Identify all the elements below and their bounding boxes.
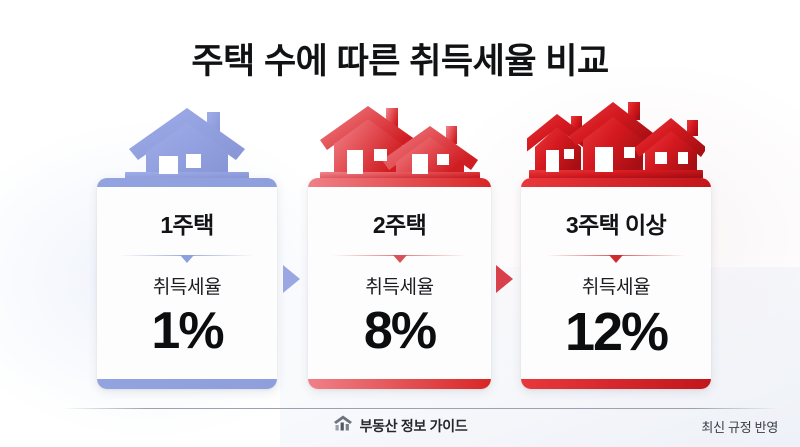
house-bar-chart-icon: [333, 415, 353, 436]
rate-value: 12%: [565, 303, 667, 362]
card-two-houses[interactable]: 2주택 취득세율 8%: [308, 104, 491, 389]
card-accent-top: [521, 178, 711, 187]
page-title: 주택 수에 따른 취득세율 비교: [0, 33, 800, 84]
footer-brand-label: 부동산 정보 가이드: [360, 416, 468, 436]
house-single-icon: [97, 104, 277, 180]
infographic-page: 주택 수에 따른 취득세율 비교: [0, 0, 800, 447]
footer-brand: 부동산 정보 가이드: [0, 415, 800, 436]
card-three-houses[interactable]: 3주택 이상 취득세율 12%: [521, 104, 711, 389]
rate-label: 취득세율: [582, 272, 650, 299]
card-title: 2주택: [373, 206, 426, 240]
card-one-house[interactable]: 1주택 취득세율 1%: [97, 104, 277, 389]
card-title: 3주택 이상: [566, 206, 666, 240]
card-body: 2주택 취득세율 8%: [308, 178, 491, 389]
footer-divider: [62, 408, 780, 409]
footer-note: 최신 규정 반영: [701, 417, 778, 436]
card-accent-bottom: [308, 379, 491, 389]
caret-down-icon: [180, 255, 194, 263]
arrow-2-to-3-icon: [496, 265, 513, 293]
rate-value: 1%: [151, 303, 222, 360]
rate-label: 취득세율: [153, 272, 221, 299]
caret-down-icon: [393, 255, 407, 263]
card-body: 1주택 취득세율 1%: [97, 178, 277, 389]
card-accent-top: [97, 178, 277, 187]
house-double-icon: [308, 104, 491, 180]
comparison-cards: 1주택 취득세율 1%: [0, 104, 800, 389]
caret-down-icon: [609, 255, 623, 263]
card-accent-bottom: [521, 379, 711, 389]
card-divider: [120, 255, 253, 256]
arrow-1-to-2-icon: [283, 265, 300, 293]
card-divider: [332, 255, 467, 256]
card-accent-bottom: [97, 379, 277, 389]
rate-value: 8%: [364, 303, 435, 360]
card-divider: [546, 255, 687, 256]
card-title: 1주택: [160, 206, 213, 240]
rate-label: 취득세율: [365, 272, 433, 299]
house-triple-icon: [521, 104, 711, 180]
card-accent-top: [308, 178, 491, 187]
card-body: 3주택 이상 취득세율 12%: [521, 178, 711, 389]
